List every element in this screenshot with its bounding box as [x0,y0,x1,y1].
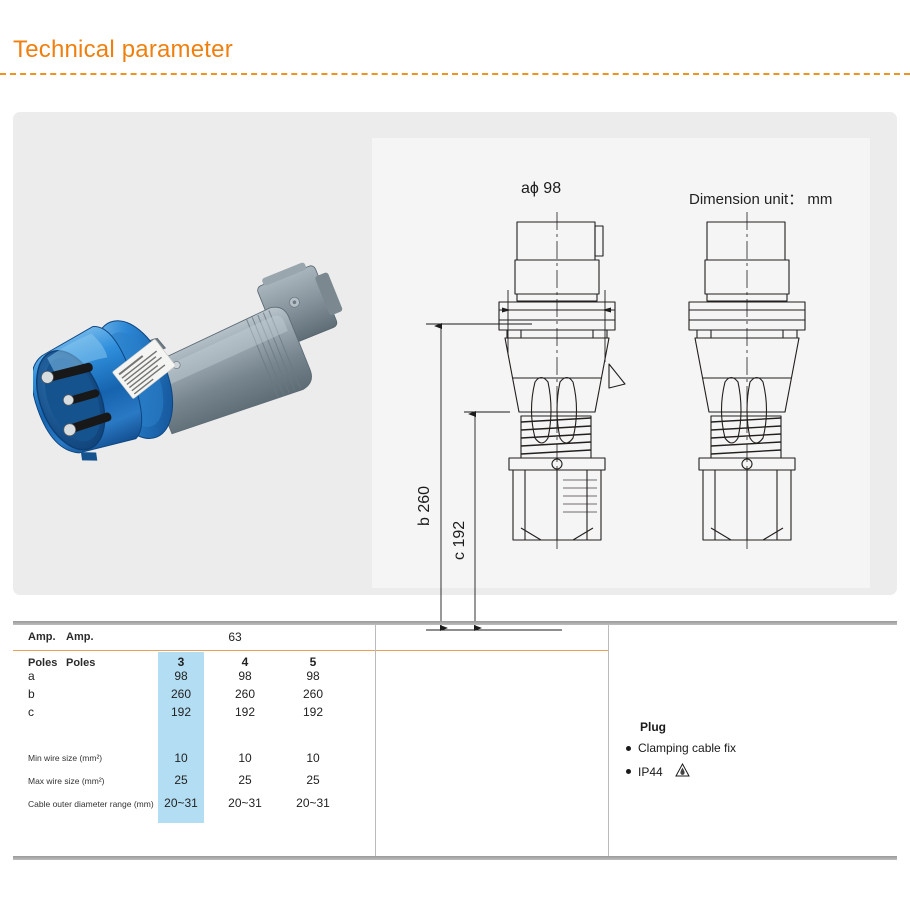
cable-diameter-col-4: 20~31 [216,796,274,810]
table-divider-2 [608,625,609,856]
table-header-rule [13,650,608,651]
feature-item-clamping: Clamping cable fix [626,741,736,755]
bullet-icon [626,746,631,751]
row-b-col-5: 260 [290,687,336,701]
row-label-c: c [28,705,34,719]
max-wire-col-3: 25 [158,773,204,787]
max-wire-col-5: 25 [290,773,336,787]
amp-label-1: Amp. [28,631,56,643]
dimension-unit-label: Dimension unit： mm [689,188,832,209]
plug-section-drawing [491,212,631,642]
row-label-max-wire: Max wire size (mm²) [28,776,105,786]
table-top-rule [13,621,897,625]
row-c-col-3: 192 [158,705,204,719]
row-c-col-4: 192 [222,705,268,719]
cable-diameter-col-3: 20~31 [152,796,210,810]
poles-label-1: Poles [28,657,57,669]
product-photo [33,262,373,492]
technical-parameter-page: Technical parameter [0,0,910,911]
row-b-col-4: 260 [222,687,268,701]
row-c-col-5: 192 [290,705,336,719]
row-a-col-4: 98 [222,669,268,683]
pole-column-header-3: 3 [158,655,204,669]
info-panel-heading: Plug [640,720,666,734]
row-label-cable-diameter: Cable outer diameter range (mm) [28,799,154,809]
row-label-a: a [28,669,35,683]
min-wire-col-5: 10 [290,751,336,765]
amp-label-2: Amp. [66,631,94,643]
feature-item-ip-rating: IP44 [626,763,690,780]
pole-column-header-4: 4 [222,655,268,669]
dimension-a-label: aϕ 98 [521,180,561,198]
min-wire-col-3: 10 [158,751,204,765]
row-a-col-3: 98 [158,669,204,683]
dimension-b-label: b 260 [416,486,434,526]
feature-label-ip-rating: IP44 [638,765,663,779]
table-divider-1 [375,625,376,856]
page-title: Technical parameter [13,36,233,64]
table-bottom-rule [13,856,897,860]
row-b-col-3: 260 [158,687,204,701]
bullet-icon [626,769,631,774]
pole-column-header-5: 5 [290,655,336,669]
poles-label-2: Poles [66,657,95,669]
title-divider [0,73,910,75]
plug-outline-drawing [681,212,821,642]
row-a-col-5: 98 [290,669,336,683]
feature-label-clamping: Clamping cable fix [638,741,736,755]
row-label-b: b [28,687,35,701]
cable-diameter-col-5: 20~31 [284,796,342,810]
product-image-panel: Dimension unit： mm [13,112,897,595]
dimension-c-label: c 192 [451,521,469,560]
row-label-min-wire: Min wire size (mm²) [28,753,102,763]
amp-value: 63 [205,630,265,644]
min-wire-col-4: 10 [222,751,268,765]
water-drop-triangle-icon [675,763,690,780]
max-wire-col-4: 25 [222,773,268,787]
